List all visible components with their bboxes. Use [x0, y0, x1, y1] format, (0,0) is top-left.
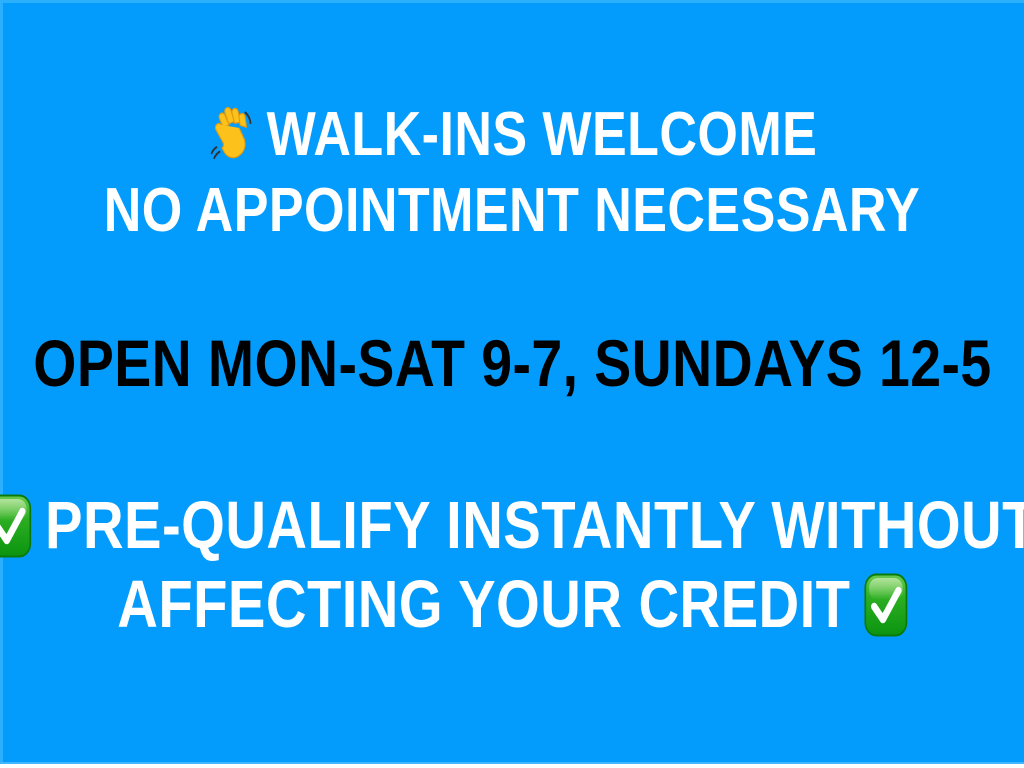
hours-line: OPEN MON-SAT 9-7, SUNDAYS 12-5: [33, 330, 991, 396]
prequalify-line-1: PRE-QUALIFY INSTANTLY WITHOUT: [0, 492, 1024, 559]
white-check-mark-icon: [863, 573, 907, 637]
waving-hand-icon: [206, 106, 255, 164]
headline-walkins-welcome: WALK-INS WELCOME: [206, 104, 817, 166]
hours-line-text: OPEN MON-SAT 9-7, SUNDAYS 12-5: [33, 330, 991, 396]
prequalify-line-2: AFFECTING YOUR CREDIT: [117, 571, 907, 638]
headline-no-appointment: NO APPOINTMENT NECESSARY: [104, 180, 920, 242]
prequalify-line-2-text: AFFECTING YOUR CREDIT: [117, 571, 850, 638]
message-stack: WALK-INS WELCOME NO APPOINTMENT NECESSAR…: [0, 0, 1024, 768]
headline-walkins-welcome-text: WALK-INS WELCOME: [267, 104, 818, 166]
white-check-mark-icon: [0, 494, 31, 558]
headline-no-appointment-text: NO APPOINTMENT NECESSARY: [104, 180, 920, 242]
promo-graphic-canvas: WALK-INS WELCOME NO APPOINTMENT NECESSAR…: [0, 0, 1024, 768]
prequalify-line-1-text: PRE-QUALIFY INSTANTLY WITHOUT: [45, 492, 1024, 559]
